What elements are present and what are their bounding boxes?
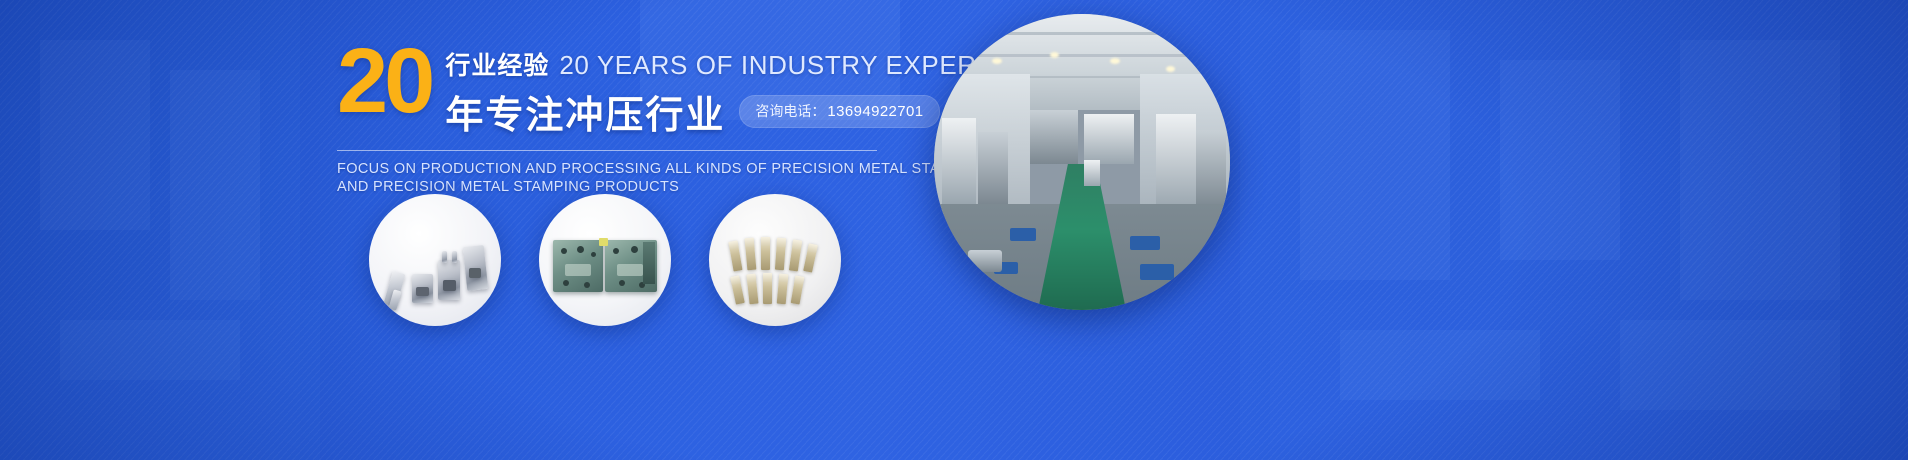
- factory-photo-circle[interactable]: [934, 14, 1230, 310]
- contact-separator: ：: [811, 101, 825, 121]
- headline-block: 20 行业经验 20 YEARS OF INDUSTRY EXPERIENCE …: [337, 36, 897, 196]
- product-circle-brass-pins[interactable]: [709, 194, 841, 326]
- contact-phone-badge[interactable]: 咨询电话 ： 13694922701: [739, 95, 939, 128]
- contact-phone-number: 13694922701: [827, 103, 923, 120]
- promo-banner: 20 行业经验 20 YEARS OF INDUSTRY EXPERIENCE …: [0, 0, 1908, 460]
- cn-experience-label: 行业经验: [445, 46, 549, 82]
- description-line-2: AND PRECISION METAL STAMPING PRODUCTS: [337, 178, 897, 196]
- product-circle-mold-die[interactable]: [539, 194, 671, 326]
- divider-rule: [337, 150, 877, 151]
- years-number: 20: [337, 40, 431, 122]
- product-circle-connectors[interactable]: [369, 194, 501, 326]
- cn-main-headline: 年专注冲压行业: [445, 84, 725, 139]
- contact-label: 咨询电话: [755, 101, 811, 121]
- description-text: FOCUS ON PRODUCTION AND PROCESSING ALL K…: [337, 160, 897, 196]
- headline-row: 20 行业经验 20 YEARS OF INDUSTRY EXPERIENCE …: [337, 36, 897, 139]
- description-line-1: FOCUS ON PRODUCTION AND PROCESSING ALL K…: [337, 160, 897, 178]
